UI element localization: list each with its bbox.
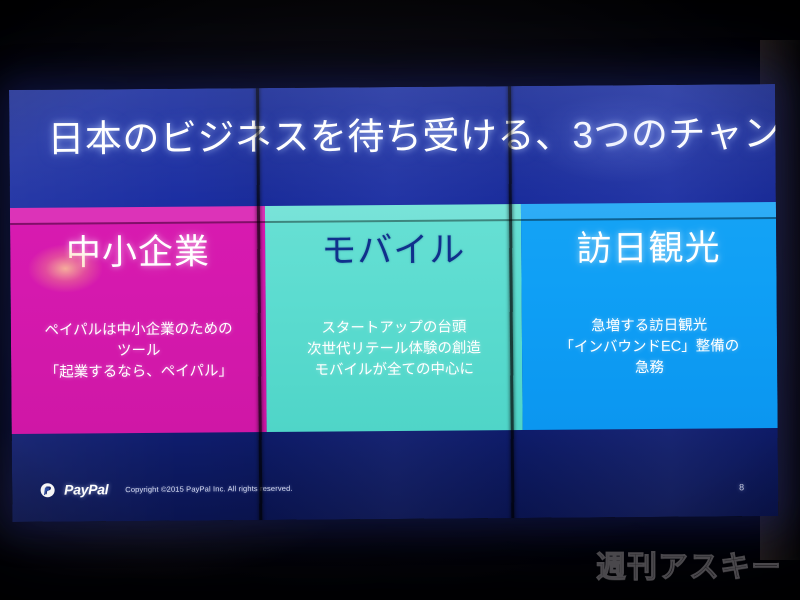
column-sme-body-line: 「起業するなら、ペイパル」 xyxy=(19,361,258,384)
column-inbound-tourism-body-line: 急務 xyxy=(530,357,769,380)
column-mobile-body-line: モバイルが全ての中心に xyxy=(274,359,513,382)
paypal-wordmark: PayPal xyxy=(64,481,108,497)
three-chances-columns: 中小企業 ペイパルは中小企業のための ツール 「起業するなら、ペイパル」 モバイ… xyxy=(10,202,778,434)
column-mobile-heading: モバイル xyxy=(265,230,521,272)
column-mobile-body: スタートアップの台頭 次世代リテール体験の創造 モバイルが全ての中心に xyxy=(274,317,514,382)
photograph-of-presentation-screen: 日本のビジネスを待ち受ける、3つのチャンス 中小企業 ペイパルは中小企業のための… xyxy=(0,0,800,600)
paypal-brand-lockup: PayPal Copyright ©2015 PayPal Inc. All r… xyxy=(40,480,293,498)
column-sme-heading: 中小企業 xyxy=(10,232,266,274)
column-sme-body-line: ツール xyxy=(19,340,258,363)
column-inbound-tourism: 訪日観光 急増する訪日観光 「インバウンドEC」整備の 急務 xyxy=(521,202,778,430)
slide-page-number: 8 xyxy=(739,482,744,492)
video-wall-screen: 日本のビジネスを待ち受ける、3つのチャンス 中小企業 ペイパルは中小企業のための… xyxy=(9,84,778,522)
column-inbound-tourism-body-line: 急増する訪日観光 xyxy=(529,315,768,338)
column-mobile-panel: モバイル スタートアップの台頭 次世代リテール体験の創造 モバイルが全ての中心に xyxy=(265,204,522,432)
copyright-text: Copyright ©2015 PayPal Inc. All rights r… xyxy=(125,483,292,493)
column-inbound-tourism-body-line: 「インバウンドEC」整備の xyxy=(530,336,769,359)
column-mobile-body-line: スタートアップの台頭 xyxy=(274,317,513,340)
column-mobile-body-line: 次世代リテール体験の創造 xyxy=(274,338,513,361)
slide-title: 日本のビジネスを待ち受ける、3つのチャンス xyxy=(47,114,747,160)
column-inbound-tourism-panel: 訪日観光 急増する訪日観光 「インバウンドEC」整備の 急務 xyxy=(521,202,778,430)
column-inbound-tourism-body: 急増する訪日観光 「インバウンドEC」整備の 急務 xyxy=(529,315,769,380)
slide-surface: 日本のビジネスを待ち受ける、3つのチャンス 中小企業 ペイパルは中小企業のための… xyxy=(9,84,778,522)
paypal-logo-icon xyxy=(40,482,55,497)
publication-watermark: 週刊アスキー xyxy=(596,542,782,586)
column-sme-body: ペイパルは中小企業のための ツール 「起業するなら、ペイパル」 xyxy=(19,319,259,384)
slide-footer: PayPal Copyright ©2015 PayPal Inc. All r… xyxy=(12,428,779,522)
column-mobile: モバイル スタートアップの台頭 次世代リテール体験の創造 モバイルが全ての中心に xyxy=(265,204,522,432)
column-sme-panel: 中小企業 ペイパルは中小企業のための ツール 「起業するなら、ペイパル」 xyxy=(10,206,267,434)
column-sme: 中小企業 ペイパルは中小企業のための ツール 「起業するなら、ペイパル」 xyxy=(10,206,267,434)
column-sme-body-line: ペイパルは中小企業のための xyxy=(19,319,258,342)
column-inbound-tourism-heading: 訪日観光 xyxy=(521,228,777,270)
